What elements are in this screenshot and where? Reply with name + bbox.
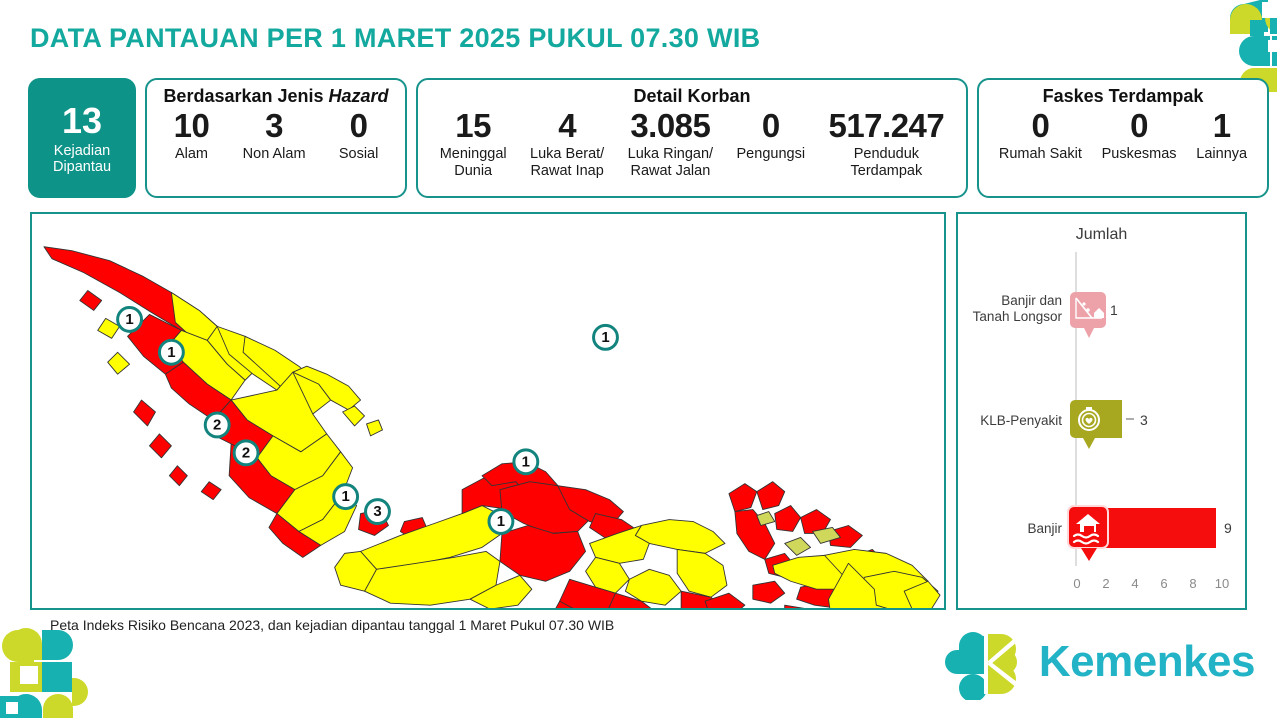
bar-label-klb-penyakit: KLB-Penyakit: [980, 413, 1062, 428]
svg-text:1: 1: [125, 311, 133, 328]
map-marker[interactable]: 1: [594, 325, 618, 349]
indonesia-risk-map[interactable]: 1 1 2 2 1 3 1 1 1: [32, 214, 944, 608]
stat-sosial-caption: Sosial: [339, 146, 379, 163]
x-tick-1: 2: [1102, 576, 1109, 591]
svg-text:1: 1: [341, 488, 349, 505]
stat-pengungsi-value: 0: [762, 109, 780, 142]
map-marker[interactable]: 2: [205, 413, 229, 437]
card-faskes-terdampak: Faskes Terdampak 0 Rumah Sakit 0 Puskesm…: [977, 78, 1269, 198]
card-detail-korban-title: Detail Korban: [428, 86, 956, 107]
card-jenis-hazard: Berdasarkan Jenis Hazard 10 Alam 3 Non A…: [145, 78, 407, 198]
stat-non-alam-value: 3: [265, 109, 283, 142]
stat-luka-ringan: 3.085 Luka Ringan/ Rawat Jalan: [623, 109, 718, 179]
stat-meninggal-dunia-value: 15: [455, 109, 491, 142]
map-marker[interactable]: 3: [366, 500, 390, 524]
hazard-bar-chart[interactable]: Banjir dan Tanah Longsor 1: [958, 214, 1245, 608]
kejadian-dipantau-label-line1: Kejadian: [54, 143, 110, 159]
bar-group-banjir-dan-tanah-longsor[interactable]: Banjir dan Tanah Longsor 1: [973, 292, 1118, 338]
chart-x-ticks: 0 2 4 6 8 10: [1073, 576, 1229, 591]
svg-text:1: 1: [497, 513, 505, 530]
hazard-count-chart-panel[interactable]: Jumlah: [956, 212, 1247, 610]
x-tick-0: 0: [1073, 576, 1080, 591]
map-marker[interactable]: 1: [514, 450, 538, 474]
svg-text:1: 1: [601, 329, 609, 346]
stat-lainnya-value: 1: [1213, 109, 1231, 142]
stat-lainnya-caption: Lainnya: [1196, 146, 1247, 163]
stat-puskesmas-caption: Puskesmas: [1102, 146, 1177, 163]
x-tick-4: 8: [1189, 576, 1196, 591]
stat-rumah-sakit-value: 0: [1031, 109, 1049, 142]
card-jenis-hazard-title: Berdasarkan Jenis Hazard: [157, 86, 395, 107]
stat-non-alam-caption: Non Alam: [243, 146, 306, 163]
map-marker[interactable]: 1: [159, 340, 183, 364]
card-detail-korban-title-plain: Detail Korban: [633, 86, 750, 106]
stat-pengungsi-caption: Pengungsi: [737, 146, 806, 163]
bar-group-banjir[interactable]: Banjir 9: [1027, 506, 1232, 561]
card-jenis-hazard-title-plain: Berdasarkan Jenis: [163, 86, 328, 106]
card-detail-korban-stats: 15 Meninggal Dunia 4 Luka Berat/ Rawat I…: [428, 109, 956, 189]
map-marker[interactable]: 1: [118, 307, 142, 331]
stat-pengungsi: 0 Pengungsi: [732, 109, 811, 163]
bar-label-banjir: Banjir: [1027, 521, 1062, 536]
x-tick-3: 6: [1160, 576, 1167, 591]
stat-rumah-sakit-caption: Rumah Sakit: [999, 146, 1082, 163]
kejadian-dipantau-badge: 13 Kejadian Dipantau: [28, 78, 136, 198]
stat-sosial-value: 0: [350, 109, 368, 142]
stat-penduduk-terdampak-value: 517.247: [828, 109, 944, 142]
bar-label-line1: Banjir dan: [1001, 293, 1062, 308]
card-jenis-hazard-title-italic: Hazard: [329, 86, 389, 106]
stat-alam-caption: Alam: [175, 146, 208, 163]
card-jenis-hazard-stats: 10 Alam 3 Non Alam 0 Sosial: [157, 109, 395, 189]
stat-luka-berat-value: 4: [558, 109, 576, 142]
stat-rumah-sakit: 0 Rumah Sakit: [994, 109, 1087, 163]
stat-luka-berat: 4 Luka Berat/ Rawat Inap: [525, 109, 609, 179]
stat-penduduk-terdampak-caption: Penduduk Terdampak: [851, 146, 923, 179]
stat-lainnya: 1 Lainnya: [1191, 109, 1252, 163]
chart-area: Banjir dan Tanah Longsor 1: [958, 214, 1245, 608]
page-title: DATA PANTAUAN PER 1 MARET 2025 PUKUL 07.…: [30, 23, 760, 54]
map-marker[interactable]: 2: [234, 441, 258, 465]
stat-non-alam: 3 Non Alam: [238, 109, 311, 163]
kpi-row: 13 Kejadian Dipantau Berdasarkan Jenis H…: [28, 78, 1269, 198]
card-faskes-terdampak-title: Faskes Terdampak: [989, 86, 1257, 107]
kejadian-dipantau-value: 13: [62, 101, 102, 141]
stat-luka-berat-caption: Luka Berat/ Rawat Inap: [530, 146, 604, 179]
bar-value-banjir-dan-tanah-longsor: 1: [1110, 302, 1118, 318]
svg-text:1: 1: [167, 344, 175, 361]
stat-penduduk-terdampak: 517.247 Penduduk Terdampak: [823, 109, 949, 179]
map-footnote: Peta Indeks Risiko Bencana 2023, dan kej…: [50, 617, 614, 633]
kemenkes-wordmark: Kemenkes: [1039, 637, 1255, 687]
stat-alam: 10 Alam: [169, 109, 215, 163]
dashboard-page: DATA PANTAUAN PER 1 MARET 2025 PUKUL 07.…: [0, 0, 1277, 718]
stat-luka-ringan-value: 3.085: [630, 109, 710, 142]
card-faskes-terdampak-title-plain: Faskes Terdampak: [1043, 86, 1204, 106]
kemenkes-mark-icon: [943, 624, 1029, 700]
bar-value-klb-penyakit: 3: [1140, 412, 1148, 428]
corner-decoration-bottom-left: [0, 626, 132, 718]
svg-text:1: 1: [522, 453, 530, 470]
stat-puskesmas-value: 0: [1130, 109, 1148, 142]
x-tick-5: 10: [1215, 576, 1229, 591]
card-detail-korban: Detail Korban 15 Meninggal Dunia 4 Luka …: [416, 78, 968, 198]
x-tick-2: 4: [1131, 576, 1138, 591]
bar-value-banjir: 9: [1224, 520, 1232, 536]
stat-alam-value: 10: [174, 109, 210, 142]
svg-text:2: 2: [242, 444, 250, 461]
risk-map-panel[interactable]: 1 1 2 2 1 3 1 1 1: [30, 212, 946, 610]
kejadian-dipantau-label-line2: Dipantau: [53, 159, 111, 175]
stat-sosial: 0 Sosial: [334, 109, 384, 163]
stat-meninggal-dunia: 15 Meninggal Dunia: [435, 109, 512, 179]
bar-group-klb-penyakit[interactable]: KLB-Penyakit 3: [980, 400, 1148, 449]
kemenkes-logo: Kemenkes: [943, 624, 1255, 700]
map-marker[interactable]: 1: [489, 510, 513, 534]
svg-text:3: 3: [373, 503, 381, 520]
card-faskes-terdampak-stats: 0 Rumah Sakit 0 Puskesmas 1 Lainnya: [989, 109, 1257, 189]
svg-text:2: 2: [213, 416, 221, 433]
flood-house-icon-badge: [1068, 506, 1108, 561]
stat-meninggal-dunia-caption: Meninggal Dunia: [440, 146, 507, 179]
stat-luka-ringan-caption: Luka Ringan/ Rawat Jalan: [628, 146, 713, 179]
map-marker[interactable]: 1: [334, 485, 358, 509]
stat-puskesmas: 0 Puskesmas: [1097, 109, 1182, 163]
bar-label-line2: Tanah Longsor: [973, 309, 1063, 324]
